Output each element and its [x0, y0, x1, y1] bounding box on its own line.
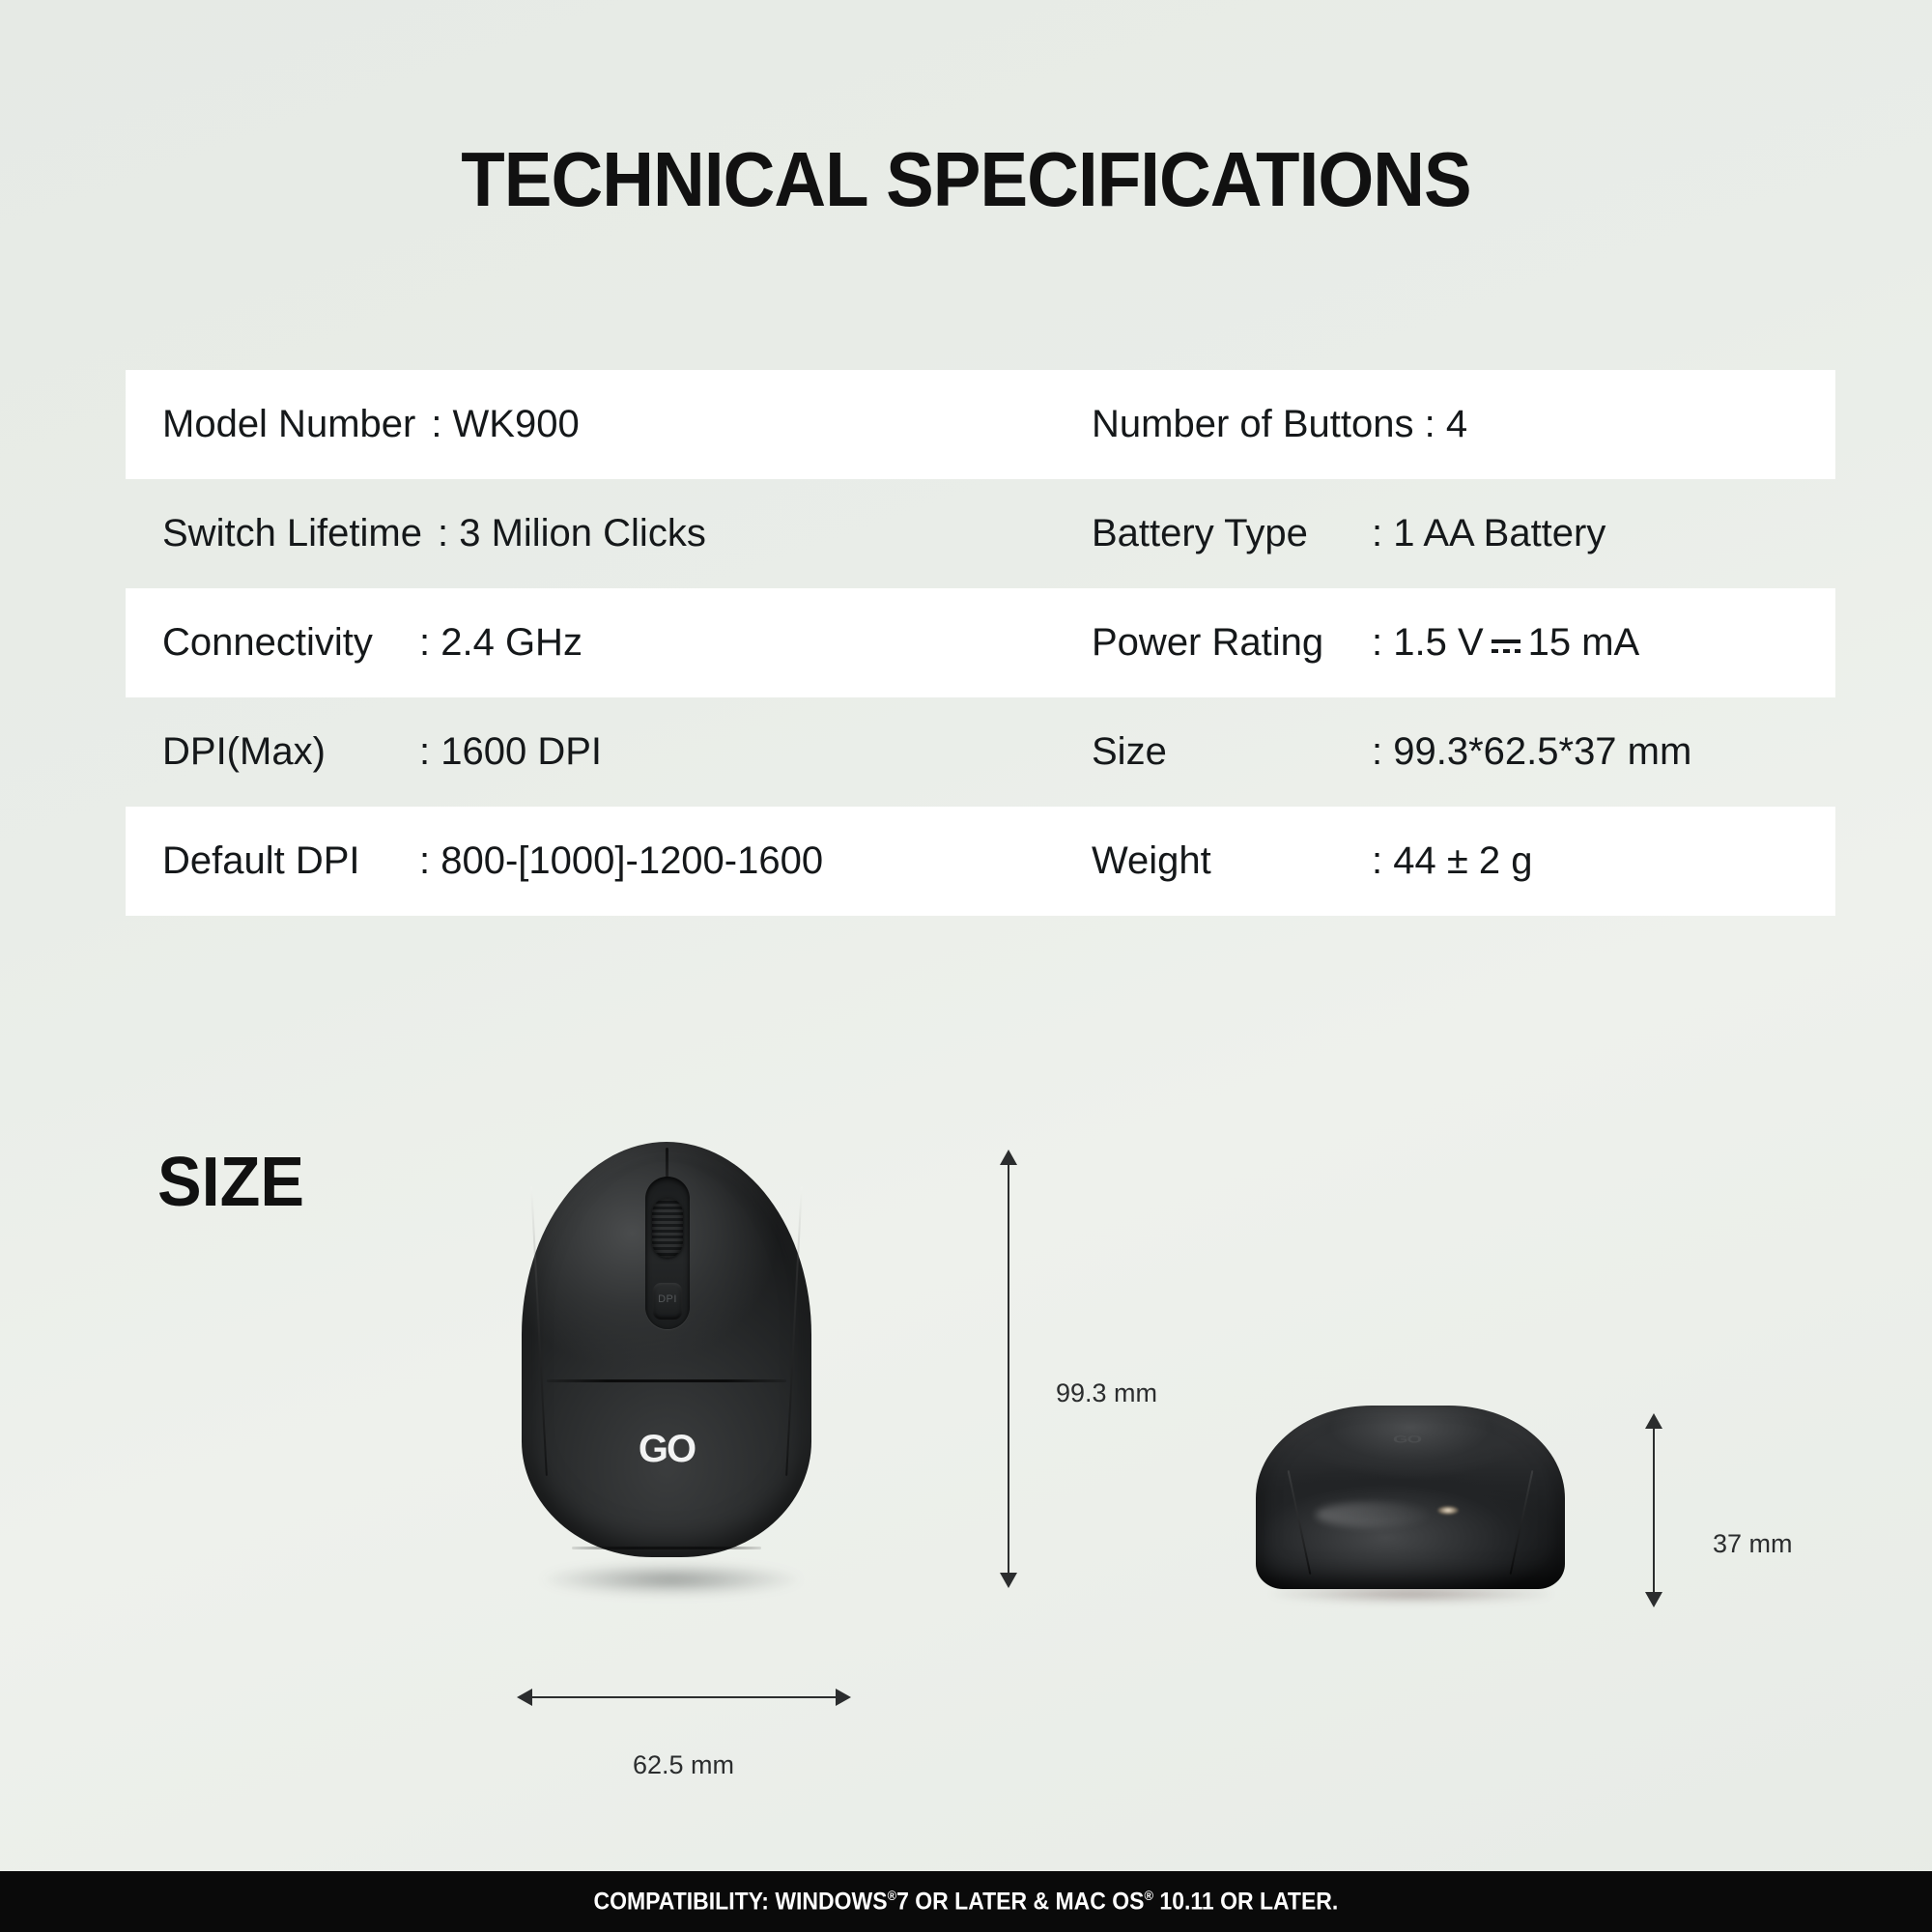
- spec-value: : 800-[1000]-1200-1600: [419, 839, 823, 883]
- spec-cell-size: Size : 99.3*62.5*37 mm: [1014, 697, 1835, 807]
- dpi-button-icon: DPI: [653, 1283, 682, 1320]
- width-dimension-line: [529, 1696, 842, 1698]
- spec-cell-model-number: Model Number : WK900: [126, 370, 1014, 479]
- gloss-highlight: [1316, 1502, 1430, 1527]
- spec-label: Power Rating: [1092, 621, 1372, 665]
- brand-logo: GO: [522, 1428, 811, 1471]
- table-row: Connectivity : 2.4 GHz Power Rating : 1.…: [126, 588, 1835, 697]
- compatibility-text-part3: 10.11 OR LATER.: [1153, 1888, 1338, 1915]
- table-row: Switch Lifetime : 3 Milion Clicks Batter…: [126, 479, 1835, 588]
- spec-label: Switch Lifetime: [162, 512, 422, 555]
- table-row: Default DPI : 800-[1000]-1200-1600 Weigh…: [126, 807, 1835, 916]
- table-row: Model Number : WK900 Number of Buttons :…: [126, 370, 1835, 479]
- spec-label: Battery Type: [1092, 512, 1372, 555]
- width-dimension-label: 62.5 mm: [633, 1750, 734, 1780]
- depth-dimension-line: [1653, 1426, 1655, 1598]
- spec-value: : 3 Milion Clicks: [438, 512, 706, 555]
- height-arrow-bottom: [1000, 1573, 1017, 1588]
- spec-value-suffix: 15 mA: [1528, 621, 1640, 665]
- dpi-button-label: DPI: [653, 1293, 682, 1305]
- spec-label: Weight: [1092, 839, 1372, 883]
- brand-logo-side: GO: [1393, 1434, 1421, 1446]
- width-arrow-left: [517, 1689, 532, 1706]
- mouse-top-shadow: [541, 1563, 802, 1596]
- spec-value: : 44 ± 2 g: [1372, 839, 1533, 883]
- spec-label: Size: [1092, 730, 1372, 774]
- compatibility-text: COMPATIBILITY: WINDOWS®7 OR LATER & MAC …: [594, 1888, 1339, 1916]
- spec-cell-number-of-buttons: Number of Buttons : 4: [1014, 370, 1835, 479]
- spec-label: DPI(Max): [162, 730, 404, 774]
- spec-value: : 2.4 GHz: [419, 621, 582, 665]
- spec-value: : 1 AA Battery: [1372, 512, 1605, 555]
- spec-cell-weight: Weight : 44 ± 2 g: [1014, 807, 1835, 916]
- height-dimension-line: [1008, 1162, 1009, 1577]
- mouse-side-view-image: GO: [1256, 1406, 1565, 1604]
- width-arrow-right: [836, 1689, 851, 1706]
- compatibility-text-part2: 7 OR LATER & MAC OS: [896, 1888, 1144, 1915]
- registered-trademark-icon: ®: [888, 1888, 897, 1903]
- spec-cell-dpi-max: DPI(Max) : 1600 DPI: [126, 697, 1014, 807]
- mouse-top-view-image: DPI GO: [522, 1142, 811, 1557]
- spec-cell-power-rating: Power Rating : 1.5 V 15 mA: [1014, 588, 1835, 697]
- spec-value-prefix: : 1.5 V: [1372, 621, 1484, 665]
- dc-power-icon: [1490, 624, 1522, 663]
- spec-label: Model Number: [162, 403, 415, 446]
- spec-table: Model Number : WK900 Number of Buttons :…: [126, 370, 1835, 916]
- spec-cell-switch-lifetime: Switch Lifetime : 3 Milion Clicks: [126, 479, 1014, 588]
- shell-split-line: [547, 1379, 786, 1382]
- depth-arrow-bottom: [1645, 1592, 1662, 1607]
- spec-cell-default-dpi: Default DPI : 800-[1000]-1200-1600: [126, 807, 1014, 916]
- compatibility-footer: COMPATIBILITY: WINDOWS®7 OR LATER & MAC …: [0, 1871, 1932, 1932]
- spec-label: Connectivity: [162, 621, 404, 665]
- spec-cell-battery-type: Battery Type : 1 AA Battery: [1014, 479, 1835, 588]
- spec-label: Number of Buttons : 4: [1092, 403, 1467, 446]
- spec-value: : WK900: [431, 403, 579, 446]
- scroll-wheel-icon: [652, 1198, 683, 1258]
- specular-highlight: [1437, 1506, 1459, 1515]
- shell-bottom-rim: [572, 1547, 761, 1549]
- spec-value: : 99.3*62.5*37 mm: [1372, 730, 1691, 774]
- height-dimension-label: 99.3 mm: [1056, 1378, 1157, 1408]
- depth-dimension-label: 37 mm: [1713, 1529, 1793, 1559]
- depth-arrow-top: [1645, 1413, 1662, 1429]
- height-arrow-top: [1000, 1150, 1017, 1165]
- table-row: DPI(Max) : 1600 DPI Size : 99.3*62.5*37 …: [126, 697, 1835, 807]
- page-title: TECHNICAL SPECIFICATIONS: [68, 135, 1864, 224]
- registered-trademark-icon: ®: [1145, 1888, 1154, 1903]
- compatibility-text-part1: COMPATIBILITY: WINDOWS: [594, 1888, 888, 1915]
- spec-cell-connectivity: Connectivity : 2.4 GHz: [126, 588, 1014, 697]
- spec-value: : 1600 DPI: [419, 730, 602, 774]
- spec-sheet-page: TECHNICAL SPECIFICATIONS Model Number : …: [0, 0, 1932, 1932]
- size-section-heading: SIZE: [157, 1143, 304, 1222]
- spec-label: Default DPI: [162, 839, 404, 883]
